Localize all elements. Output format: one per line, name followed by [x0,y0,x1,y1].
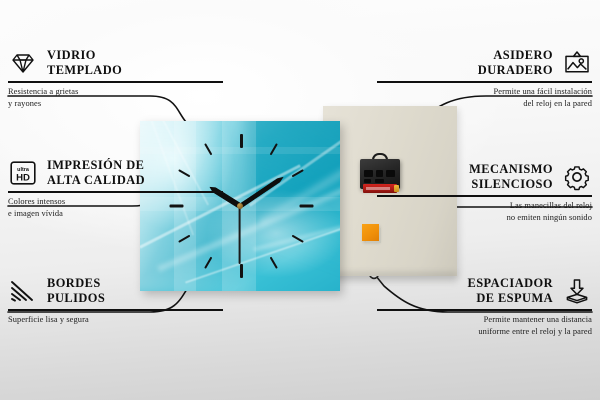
feature-title-line1: IMPRESIÓN DE [47,158,145,173]
feature-bordes-pulidos: BORDES PULIDOS Superficie lisa y segura [8,276,223,326]
feature-desc-line2: y rayones [8,98,223,110]
ultra-hd-icon: ultra HD [8,158,38,188]
feature-vidrio-templado: VIDRIO TEMPLADO Resistencia a grietas y … [8,48,223,109]
feature-asidero-duradero: ASIDERO DURADERO Permite una fácil insta… [377,48,592,109]
feature-desc-line1: Superficie lisa y segura [8,314,223,326]
infographic-canvas: VIDRIO TEMPLADO Resistencia a grietas y … [0,0,600,400]
minute-hand [239,175,285,208]
feature-impresion-alta-calidad: ultra HD IMPRESIÓN DE ALTA CALIDAD Color… [8,158,223,219]
feature-divider [8,81,223,82]
feature-desc-line1: Resistencia a grietas [8,86,223,98]
feature-title-line1: BORDES [47,276,105,291]
feature-desc-line1: Permite una fácil instalación [377,86,592,98]
feature-divider [377,309,592,310]
feature-title-line1: MECANISMO [469,162,553,177]
feature-title-line1: VIDRIO [47,48,122,63]
feature-mecanismo-silencioso: MECANISMO SILENCIOSO Las manecillas del … [377,162,592,223]
foam-spacer [362,224,379,241]
feature-divider [8,191,223,192]
feature-desc-line2: e imagen vívida [8,208,223,220]
feature-desc-line2: no emiten ningún sonido [377,212,592,224]
feature-desc-line2: uniforme entre el reloj y la pared [377,326,592,338]
feature-espaciador-de-espuma: ESPACIADOR DE ESPUMA Permite mantener un… [377,276,592,337]
feature-divider [8,309,223,310]
feature-title-line1: ASIDERO [478,48,553,63]
feature-divider [377,81,592,82]
polished-edges-icon [8,276,38,306]
feature-title-line2: TEMPLADO [47,63,122,78]
feature-divider [377,195,592,196]
svg-text:HD: HD [16,173,30,184]
feature-title-line2: SILENCIOSO [469,177,553,192]
feature-desc-line2: del reloj en la pared [377,98,592,110]
feature-title-line2: ALTA CALIDAD [47,173,145,188]
feature-title-line1: ESPACIADOR [467,276,553,291]
feature-desc-line1: Colores intensos [8,196,223,208]
wall-hanger-icon [562,48,592,78]
diamond-icon [8,48,38,78]
feature-title-line2: DE ESPUMA [467,291,553,306]
feature-desc-line1: Las manecillas del reloj [377,200,592,212]
feature-title-line2: PULIDOS [47,291,105,306]
hand-cap [237,203,243,209]
feature-title-line2: DURADERO [478,63,553,78]
gear-icon [562,162,592,192]
second-hand [239,206,241,264]
foam-spacer-icon [562,276,592,306]
feature-desc-line1: Permite mantener una distancia [377,314,592,326]
